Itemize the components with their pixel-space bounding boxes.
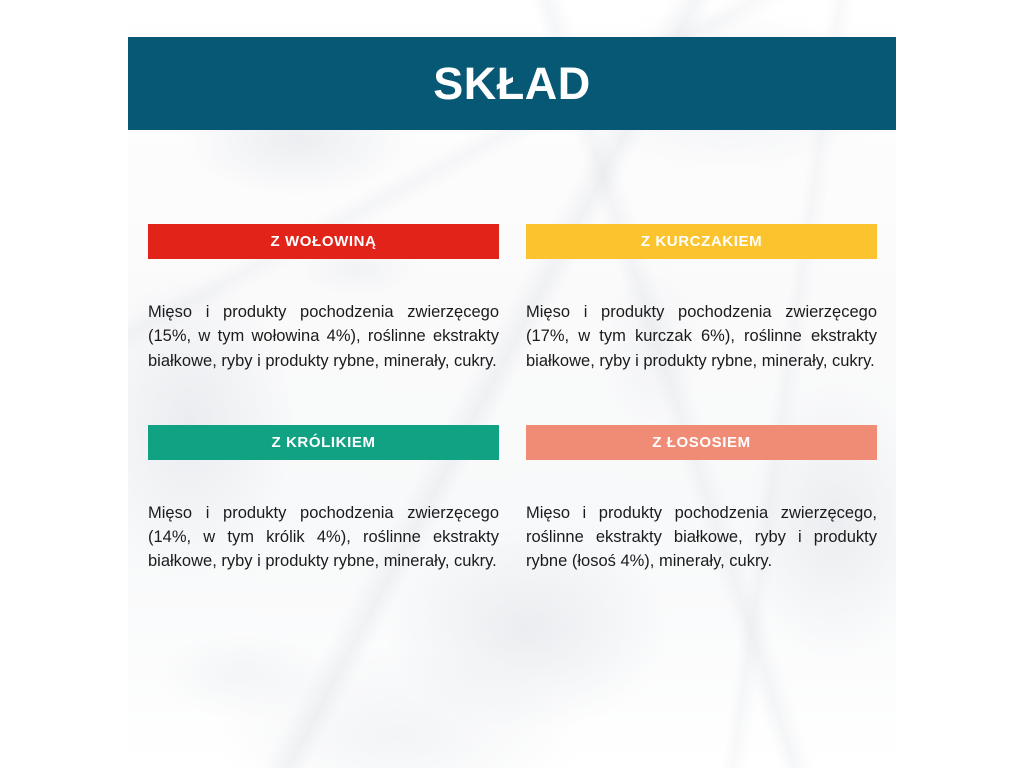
page-title: SKŁAD: [433, 61, 591, 106]
composition-infographic: SKŁAD Z WOŁOWINĄ Mięso i produkty pochod…: [0, 0, 1024, 768]
variant-card-chicken: Z KURCZAKIEM Mięso i produkty pochodzeni…: [526, 224, 877, 425]
variant-header-beef: Z WOŁOWINĄ: [148, 224, 499, 259]
variant-card-salmon: Z ŁOSOSIEM Mięso i produkty pochodzenia …: [526, 425, 877, 591]
variants-row-bottom: Z KRÓLIKIEM Mięso i produkty pochodzenia…: [148, 425, 877, 591]
variant-label-rabbit: Z KRÓLIKIEM: [271, 435, 375, 450]
variants-grid: Z WOŁOWINĄ Mięso i produkty pochodzenia …: [148, 224, 877, 590]
variant-header-salmon: Z ŁOSOSIEM: [526, 425, 877, 460]
page-header-banner: SKŁAD: [128, 37, 896, 130]
variant-ingredients-chicken: Mięso i produkty pochodzenia zwierzęcego…: [526, 300, 877, 408]
variant-ingredients-rabbit: Mięso i produkty pochodzenia zwierzęcego…: [148, 501, 499, 574]
variant-header-chicken: Z KURCZAKIEM: [526, 224, 877, 259]
variant-label-chicken: Z KURCZAKIEM: [641, 234, 762, 249]
variants-row-top: Z WOŁOWINĄ Mięso i produkty pochodzenia …: [148, 224, 877, 425]
variant-ingredients-beef: Mięso i produkty pochodzenia zwierzęcego…: [148, 300, 499, 408]
variant-label-beef: Z WOŁOWINĄ: [271, 234, 377, 249]
variant-card-beef: Z WOŁOWINĄ Mięso i produkty pochodzenia …: [148, 224, 499, 425]
variant-ingredients-salmon: Mięso i produkty pochodzenia zwierzęcego…: [526, 501, 877, 574]
variant-header-rabbit: Z KRÓLIKIEM: [148, 425, 499, 460]
variant-card-rabbit: Z KRÓLIKIEM Mięso i produkty pochodzenia…: [148, 425, 499, 591]
variant-label-salmon: Z ŁOSOSIEM: [652, 435, 751, 450]
